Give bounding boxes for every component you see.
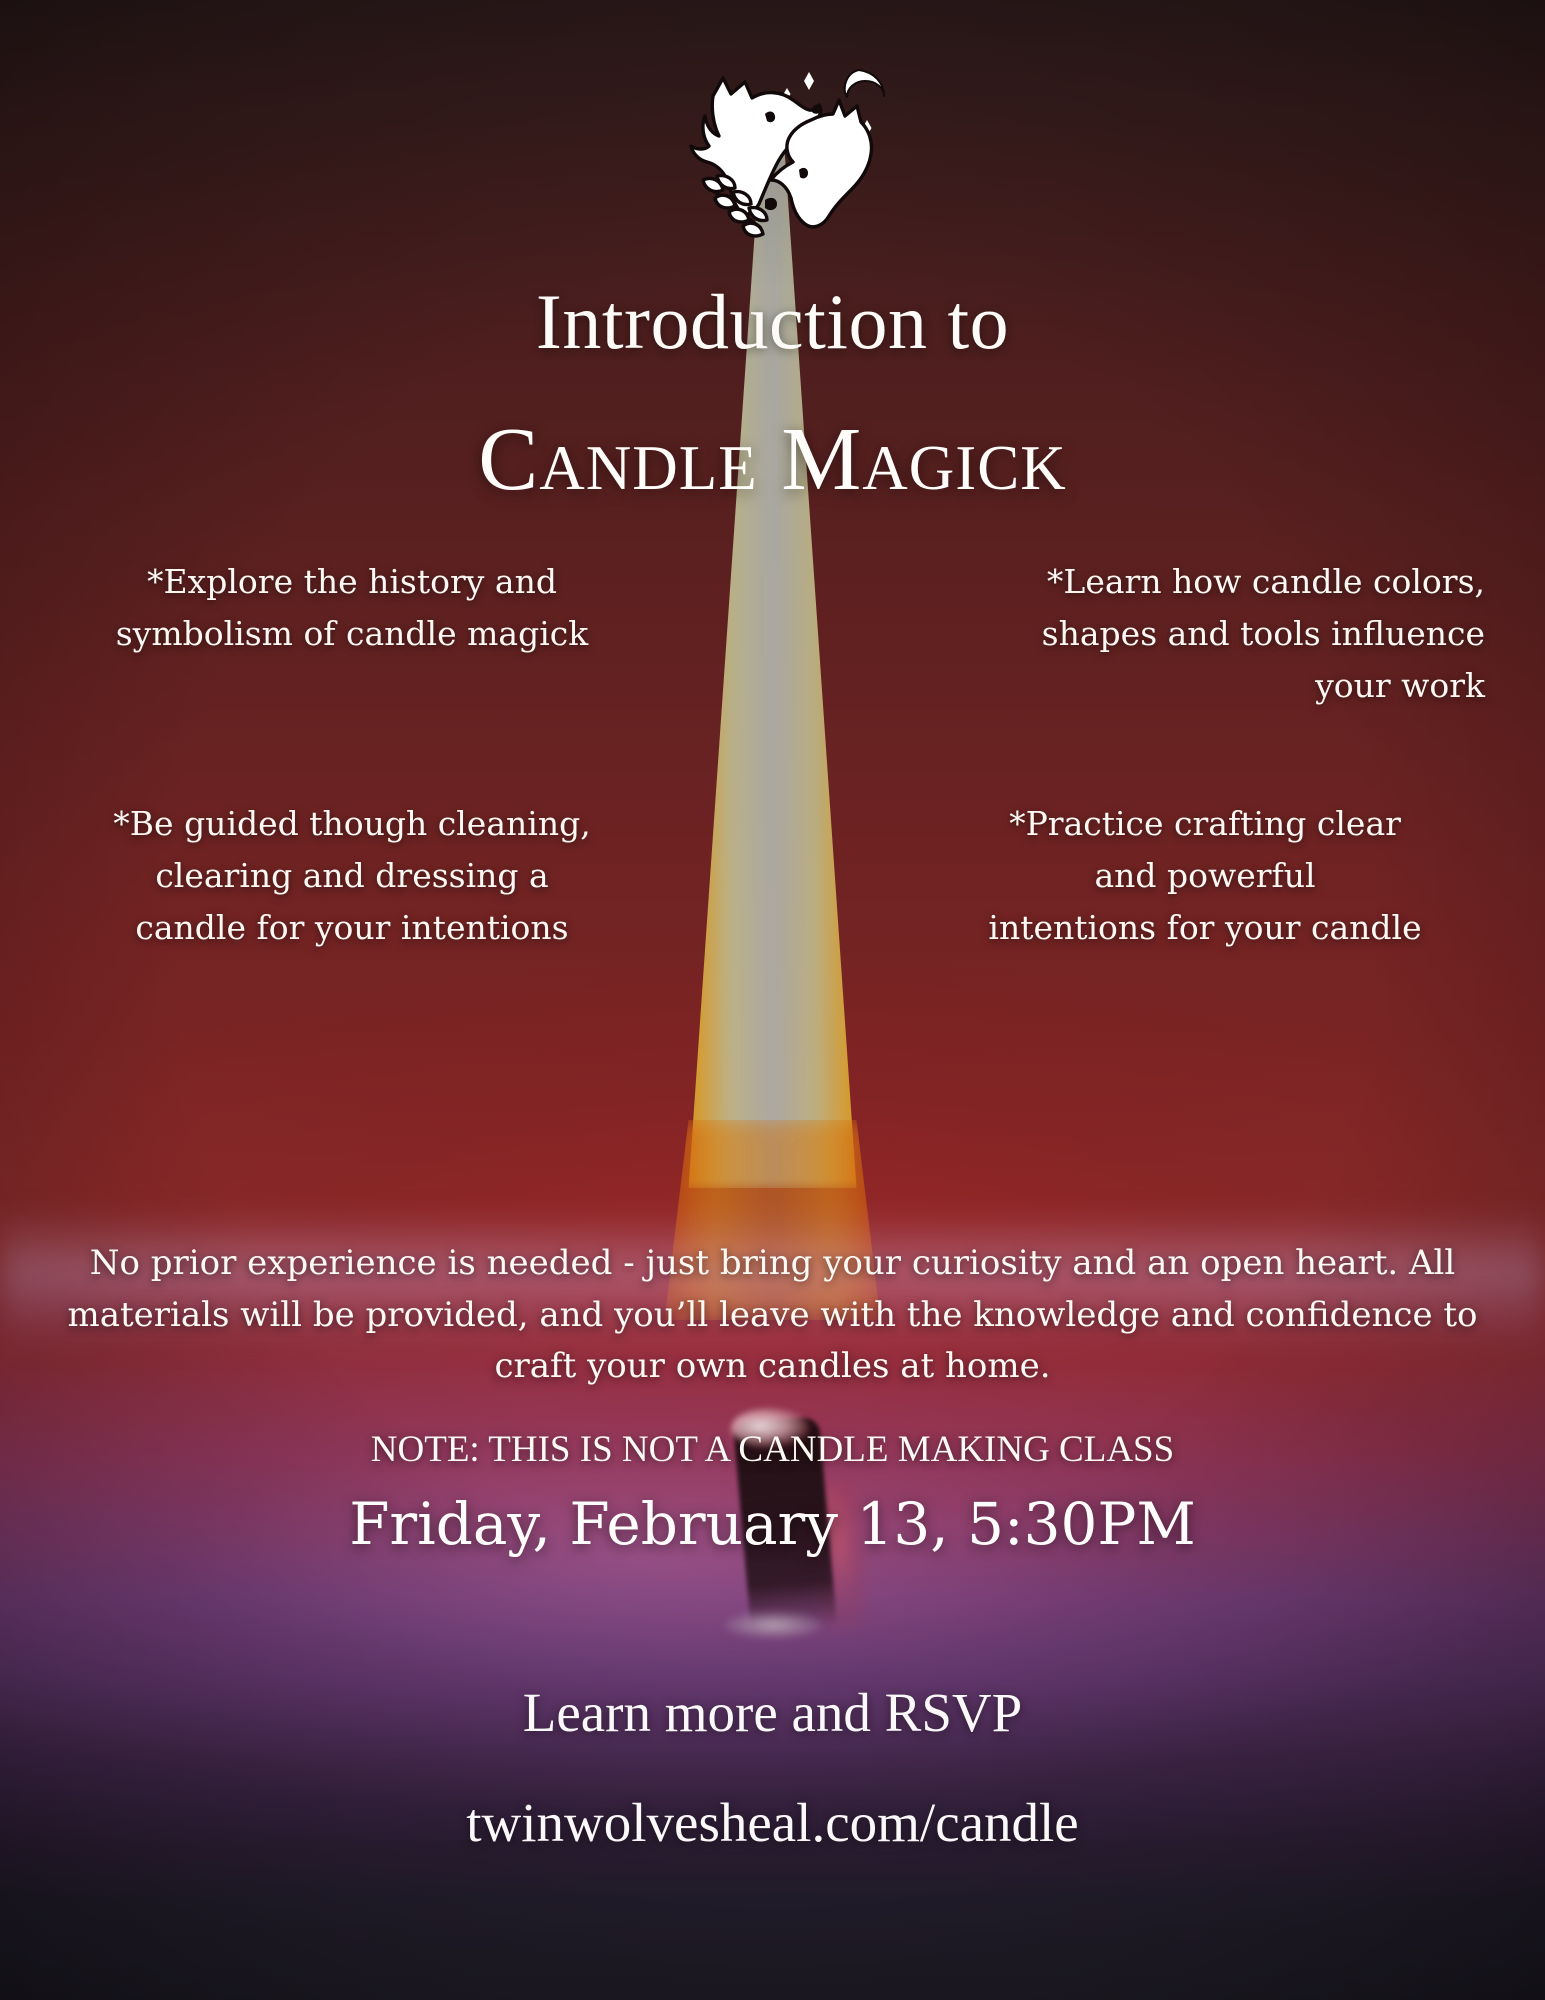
bullet-history: *Explore the history and symbolism of ca… — [72, 556, 632, 660]
event-date-time: Friday, February 13, 5:30PM — [0, 1490, 1545, 1560]
note-disclaimer: NOTE: THIS IS NOT A CANDLE MAKING CLASS — [0, 1428, 1545, 1472]
bullet-colors: *Learn how candle colors, shapes and too… — [925, 556, 1485, 712]
rsvp-call-to-action: Learn more and RSVP — [0, 1680, 1545, 1746]
bullet-grid: *Explore the history and symbolism of ca… — [0, 550, 1545, 910]
title-line-2: Candle Magick — [0, 415, 1545, 505]
body-paragraph: No prior experience is needed - just bri… — [63, 1238, 1483, 1393]
title-line-1: Introduction to — [0, 283, 1545, 361]
bullet-guided: *Be guided though cleaning, clearing and… — [72, 798, 632, 954]
rsvp-url[interactable]: twinwolvesheal.com/candle — [0, 1790, 1545, 1856]
poster-content: Introduction to Candle Magick *Explore t… — [0, 0, 1545, 2000]
poster-canvas: Introduction to Candle Magick *Explore t… — [0, 0, 1545, 2000]
bullet-practice: *Practice crafting clear and powerful in… — [925, 798, 1485, 954]
